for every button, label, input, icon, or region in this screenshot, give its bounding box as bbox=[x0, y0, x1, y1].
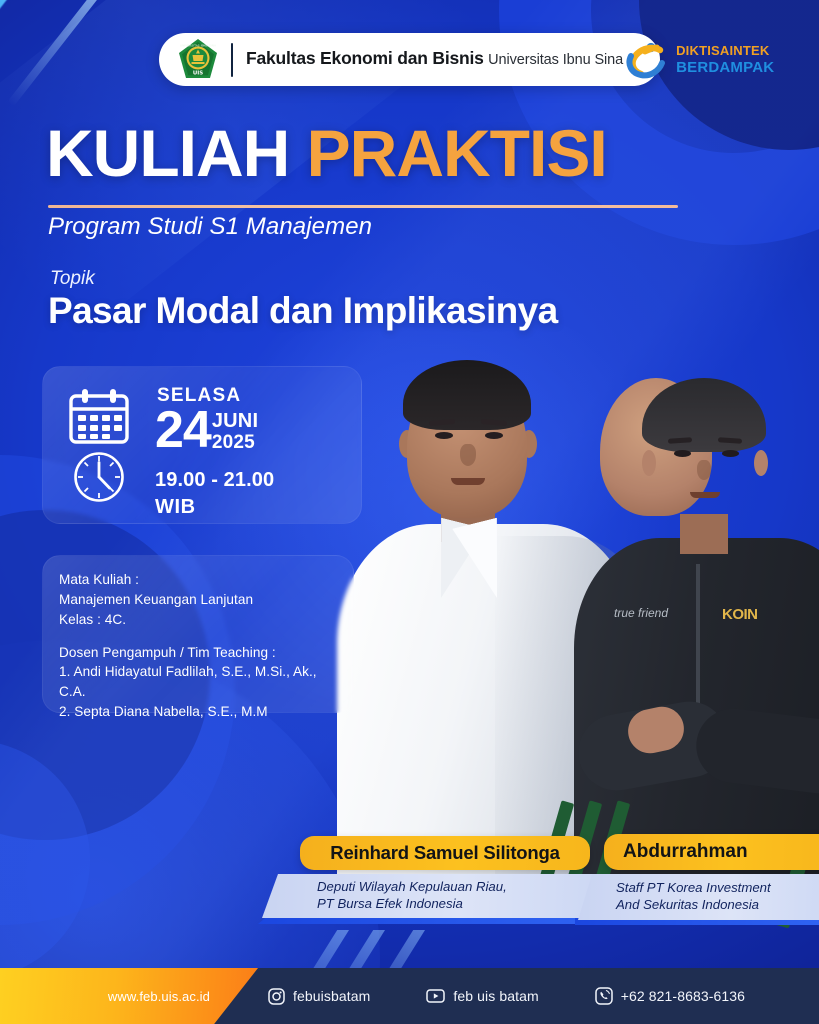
topic-label: Topik bbox=[50, 268, 95, 290]
instagram-icon bbox=[268, 988, 285, 1005]
schedule-icons bbox=[43, 381, 155, 513]
faculty-name-line1: Fakultas Ekonomi dan Bisnis bbox=[246, 48, 484, 68]
schedule-month: JUNI bbox=[212, 411, 258, 432]
schedule-month-year: JUNI 2025 bbox=[212, 411, 258, 452]
speaker-2-role-banner: Staff PT Korea Investment And Sekuritas … bbox=[578, 874, 819, 920]
jacket-text-right: KOIN bbox=[722, 606, 758, 623]
course-subject-value: Manajemen Keuangan Lanjutan bbox=[59, 590, 337, 610]
title-word-praktisi: PRAKTISI bbox=[307, 116, 607, 190]
header-branding-bar: UIS UNIVERSITAS IBNU SINA Fakultas Ekono… bbox=[159, 33, 660, 86]
footer-website-block[interactable]: www.feb.uis.ac.id bbox=[0, 968, 258, 1024]
schedule-text: SELASA 24 JUNI 2025 19.00 - 21.00 WIB bbox=[155, 381, 361, 513]
diktisaintek-wordmark: DIKTISAINTEK BERDAMPAK bbox=[676, 43, 774, 76]
course-class: Kelas : 4C. bbox=[59, 610, 337, 630]
topic-value: Pasar Modal dan Implikasinya bbox=[48, 290, 558, 332]
uis-shield-logo: UIS UNIVERSITAS IBNU SINA bbox=[177, 38, 219, 82]
program-subtitle: Program Studi S1 Manajemen bbox=[48, 213, 372, 241]
poster-main-title: KULIAH PRAKTISI bbox=[46, 120, 607, 186]
footer-social-links: febuisbatam feb uis batam bbox=[258, 968, 819, 1024]
footer-instagram-link[interactable]: febuisbatam bbox=[268, 988, 370, 1005]
schedule-time: 19.00 - 21.00 bbox=[155, 469, 361, 492]
speaker-2-role-line1: Staff PT Korea Investment bbox=[616, 880, 819, 897]
lecturer-item-1: 1. Andi Hidayatul Fadlilah, S.E., M.Si.,… bbox=[59, 662, 337, 702]
vertical-divider bbox=[231, 43, 233, 77]
jacket-text-left: true friend bbox=[614, 606, 668, 620]
speaker-1-role-banner: Deputi Wilayah Kepulauan Riau, PT Bursa … bbox=[262, 874, 592, 918]
speaker-2-name-banner: Abdurrahman bbox=[604, 834, 819, 870]
course-spacer bbox=[59, 630, 337, 643]
schedule-year: 2025 bbox=[212, 433, 258, 453]
schedule-day-number: 24 bbox=[155, 409, 211, 453]
footer-bar: www.feb.uis.ac.id febuisbatam bbox=[0, 968, 819, 1024]
title-underline-rule bbox=[48, 205, 678, 208]
schedule-timezone: WIB bbox=[155, 496, 361, 519]
lecturer-item-2: 2. Septa Diana Nabella, S.E., M.M bbox=[59, 702, 337, 722]
faculty-name-line2: Universitas Ibnu Sina bbox=[488, 52, 623, 68]
speaker-1-role-line1: Deputi Wilayah Kepulauan Riau, bbox=[317, 879, 592, 896]
diktisaintek-line1: DIKTISAINTEK bbox=[676, 43, 769, 58]
footer-youtube-link[interactable]: feb uis batam bbox=[426, 988, 538, 1004]
youtube-icon bbox=[426, 988, 445, 1004]
footer-youtube-handle: feb uis batam bbox=[453, 988, 538, 1004]
diktisaintek-swoosh-logo bbox=[623, 40, 669, 80]
diktisaintek-branding: DIKTISAINTEK BERDAMPAK bbox=[623, 40, 774, 80]
svg-text:UIS: UIS bbox=[193, 70, 203, 76]
footer-whatsapp-link[interactable]: +62 821-8683-6136 bbox=[595, 987, 745, 1005]
footer-whatsapp-number: +62 821-8683-6136 bbox=[621, 988, 745, 1004]
faculty-name-block: Fakultas Ekonomi dan Bisnis Universitas … bbox=[246, 49, 623, 69]
poster-canvas: UIS UNIVERSITAS IBNU SINA Fakultas Ekono… bbox=[0, 0, 819, 1024]
schedule-card: SELASA 24 JUNI 2025 19.00 - 21.00 WIB bbox=[42, 366, 362, 524]
course-info-card: Mata Kuliah : Manajemen Keuangan Lanjuta… bbox=[42, 555, 354, 713]
footer-website-url: www.feb.uis.ac.id bbox=[108, 989, 210, 1004]
speaker-2-role-line2: And Sekuritas Indonesia bbox=[616, 897, 819, 914]
schedule-date-line: 24 JUNI 2025 bbox=[155, 409, 361, 453]
svg-text:UNIVERSITAS IBNU SINA: UNIVERSITAS IBNU SINA bbox=[180, 43, 217, 47]
speaker-1-name-banner: Reinhard Samuel Silitonga bbox=[300, 836, 590, 870]
title-word-kuliah: KULIAH bbox=[46, 116, 289, 190]
lecturer-label: Dosen Pengampuh / Tim Teaching : bbox=[59, 643, 337, 663]
footer-instagram-handle: febuisbatam bbox=[293, 988, 370, 1004]
speaker-1-role-line2: PT Bursa Efek Indonesia bbox=[317, 896, 592, 913]
whatsapp-icon bbox=[595, 987, 613, 1005]
calendar-icon bbox=[68, 387, 130, 450]
course-subject-label: Mata Kuliah : bbox=[59, 570, 337, 590]
diktisaintek-line2: BERDAMPAK bbox=[676, 59, 774, 76]
clock-icon bbox=[72, 450, 126, 509]
